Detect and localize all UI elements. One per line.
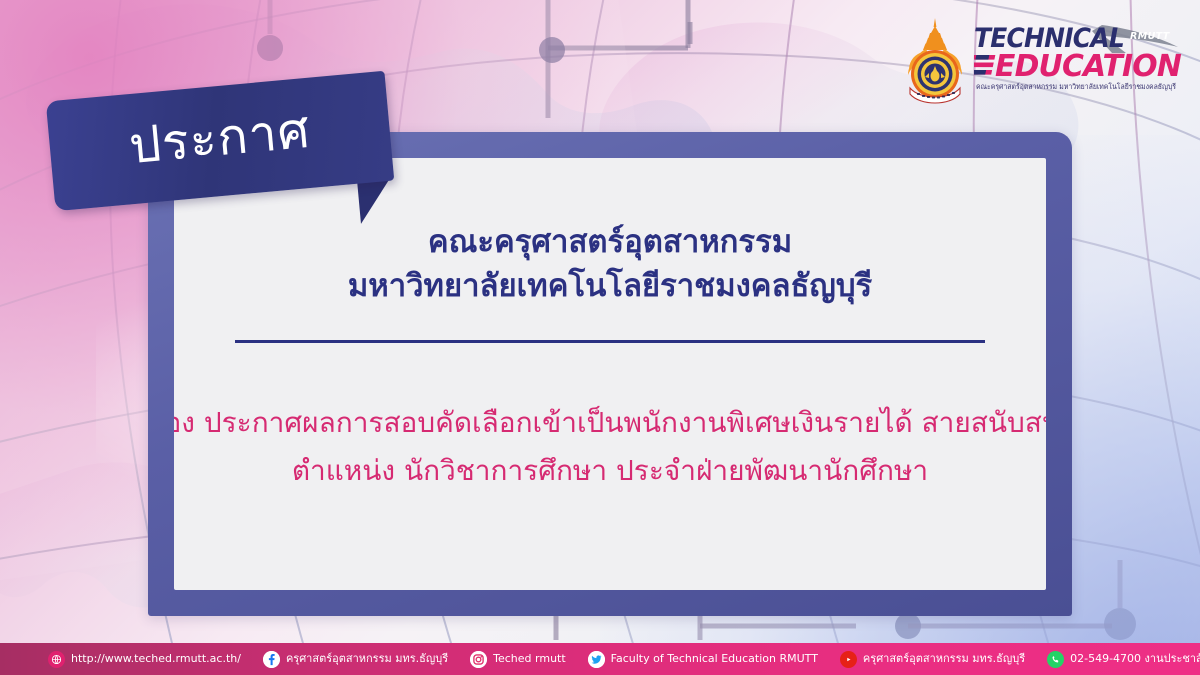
footer-label-phone: 02-549-4700 งานประชาสัมพันธ์ [1070, 653, 1200, 665]
footer-item-instagram[interactable]: Teched rmutt [470, 651, 566, 668]
footer-item-facebook[interactable]: ครุศาสตร์อุตสาหกรรม มทร.ธัญบุรี [263, 651, 448, 668]
announcement-ribbon: ประกาศ [50, 86, 390, 196]
logo-word-education: EDUCATION [995, 49, 1182, 84]
faculty-name-line: คณะครุศาสตร์อุตสาหกรรม [428, 220, 792, 264]
ribbon-fold-tail [357, 177, 395, 224]
title-divider [235, 340, 985, 343]
announcement-body: เรื่อง ประกาศผลการสอบคัดเลือกเข้าเป็นพนั… [174, 399, 1046, 494]
phone-icon [1047, 651, 1064, 668]
rmutt-technical-education-logo: RMUTT TECHNICAL EDUCATION คณะครุศาสตร์อุ… [902, 14, 1184, 110]
footer-item-phone[interactable]: 02-549-4700 งานประชาสัมพันธ์ [1047, 651, 1200, 668]
youtube-icon [840, 651, 857, 668]
social-footer-bar: http://www.teched.rmutt.ac.th/ ครุศาสตร์… [0, 643, 1200, 675]
website-icon [48, 651, 65, 668]
rmutt-royal-emblem-icon [902, 16, 968, 108]
announcement-poster: RMUTT TECHNICAL EDUCATION คณะครุศาสตร์อุ… [0, 0, 1200, 675]
footer-label-twitter: Faculty of Technical Education RMUTT [611, 653, 818, 665]
instagram-icon [470, 651, 487, 668]
logo-rmutt-badge: RMUTT [1130, 31, 1171, 42]
announcement-card-frame: คณะครุศาสตร์อุตสาหกรรม มหาวิทยาลัยเทคโนโ… [148, 132, 1072, 616]
announcement-card-content: คณะครุศาสตร์อุตสาหกรรม มหาวิทยาลัยเทคโนโ… [174, 158, 1046, 590]
footer-item-website[interactable]: http://www.teched.rmutt.ac.th/ [48, 651, 241, 668]
announcement-position-line: ตำแหน่ง นักวิชาการศึกษา ประจำฝ่ายพัฒนานั… [174, 447, 1046, 495]
footer-label-website: http://www.teched.rmutt.ac.th/ [71, 653, 241, 665]
ribbon-shape: ประกาศ [46, 71, 395, 211]
logo-subtitle-thai: คณะครุศาสตร์อุตสาหกรรม มหาวิทยาลัยเทคโนโ… [976, 82, 1176, 91]
announcement-subject-line: เรื่อง ประกาศผลการสอบคัดเลือกเข้าเป็นพนั… [174, 399, 1046, 447]
announcement-card-inner: คณะครุศาสตร์อุตสาหกรรม มหาวิทยาลัยเทคโนโ… [174, 158, 1046, 590]
footer-label-youtube: ครุศาสตร์อุตสาหกรรม มทร.ธัญบุรี [863, 653, 1025, 665]
footer-item-youtube[interactable]: ครุศาสตร์อุตสาหกรรม มทร.ธัญบุรี [840, 651, 1025, 668]
twitter-icon [588, 651, 605, 668]
footer-label-facebook: ครุศาสตร์อุตสาหกรรม มทร.ธัญบุรี [286, 653, 448, 665]
university-name-line: มหาวิทยาลัยเทคโนโลยีราชมงคลธัญบุรี [348, 264, 872, 308]
footer-label-instagram: Teched rmutt [493, 653, 566, 665]
ribbon-label: ประกาศ [46, 71, 395, 211]
facebook-icon [263, 651, 280, 668]
technical-education-wordmark: RMUTT TECHNICAL EDUCATION คณะครุศาสตร์อุ… [974, 19, 1184, 105]
footer-item-twitter[interactable]: Faculty of Technical Education RMUTT [588, 651, 818, 668]
